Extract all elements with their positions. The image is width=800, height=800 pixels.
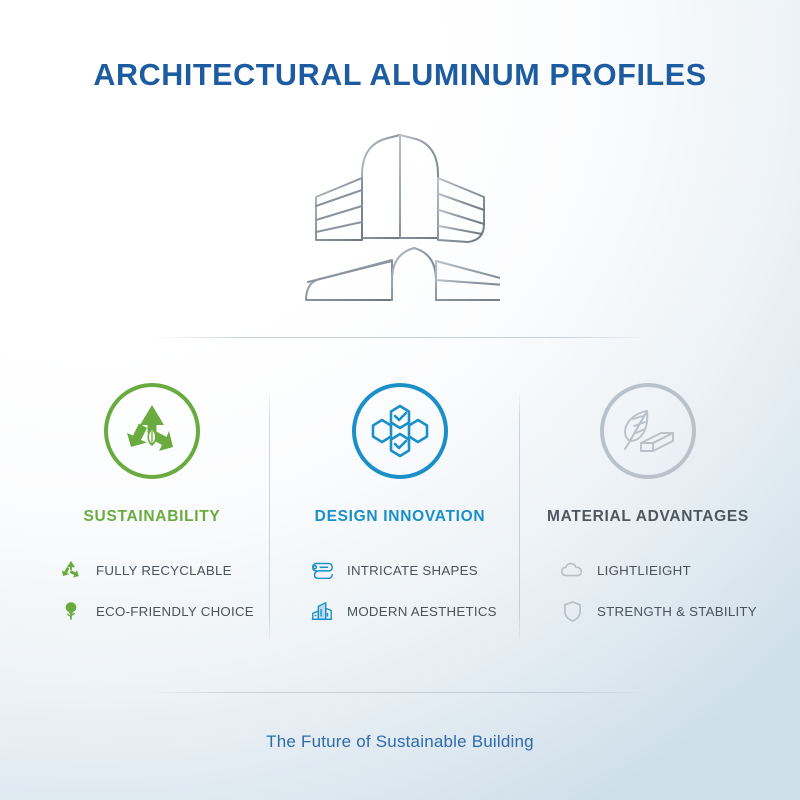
- feature-column-material-advantages: MATERIAL ADVANTAGES LIGHTLIEIGHT: [524, 383, 772, 635]
- feature-column-design-innovation: DESIGN INNOVATION INTRICATE SHAPES: [276, 383, 524, 635]
- list-item: MODERN AESTHETICS: [310, 594, 497, 628]
- list-item: INTRICATE SHAPES: [310, 553, 478, 587]
- recycle-leaf-icon: [104, 383, 200, 479]
- footer-tagline: The Future of Sustainable Building: [0, 732, 800, 752]
- bullet-list-material-advantages: LIGHTLIEIGHT STRENGTH & STABILITY: [524, 553, 772, 635]
- list-item-label: INTRICATE SHAPES: [347, 563, 478, 578]
- page-title: ARCHITECTURAL ALUMINUM PROFILES: [0, 58, 800, 93]
- list-item: ECO-FRIENDLY CHOICE: [59, 594, 254, 628]
- list-item: FULLY RECYCLABLE: [59, 553, 232, 587]
- blueprint-scroll-icon: [310, 558, 334, 582]
- recycle-icon: [59, 558, 83, 582]
- building-icon: [310, 599, 334, 623]
- feather-and-extrusion-icon: [600, 383, 696, 479]
- column-title-sustainability: SUSTAINABILITY: [84, 508, 221, 526]
- hexagon-cluster-icon: [352, 383, 448, 479]
- divider-bottom: [150, 692, 650, 693]
- column-title-design-innovation: DESIGN INNOVATION: [315, 508, 486, 526]
- divider-top: [150, 337, 650, 338]
- bullet-list-design-innovation: INTRICATE SHAPES MODERN AESTHETICS: [276, 553, 524, 635]
- list-item: STRENGTH & STABILITY: [560, 594, 757, 628]
- infographic-poster: ARCHITECTURAL ALUMINUM PROFILES: [0, 0, 800, 800]
- architectural-building-illustration: [300, 128, 500, 313]
- tree-icon: [59, 599, 83, 623]
- column-title-material-advantages: MATERIAL ADVANTAGES: [547, 508, 749, 526]
- cloud-icon: [560, 558, 584, 582]
- bullet-list-sustainability: FULLY RECYCLABLE ECO-FRIENDLY CHOICE: [28, 553, 276, 635]
- shield-icon: [560, 599, 584, 623]
- list-item-label: LIGHTLIEIGHT: [597, 563, 691, 578]
- list-item-label: MODERN AESTHETICS: [347, 604, 497, 619]
- list-item-label: STRENGTH & STABILITY: [597, 604, 757, 619]
- feature-columns: SUSTAINABILITY FULLY RECYCLABLE: [28, 383, 772, 635]
- list-item: LIGHTLIEIGHT: [560, 553, 691, 587]
- list-item-label: ECO-FRIENDLY CHOICE: [96, 604, 254, 619]
- list-item-label: FULLY RECYCLABLE: [96, 563, 232, 578]
- feature-column-sustainability: SUSTAINABILITY FULLY RECYCLABLE: [28, 383, 276, 635]
